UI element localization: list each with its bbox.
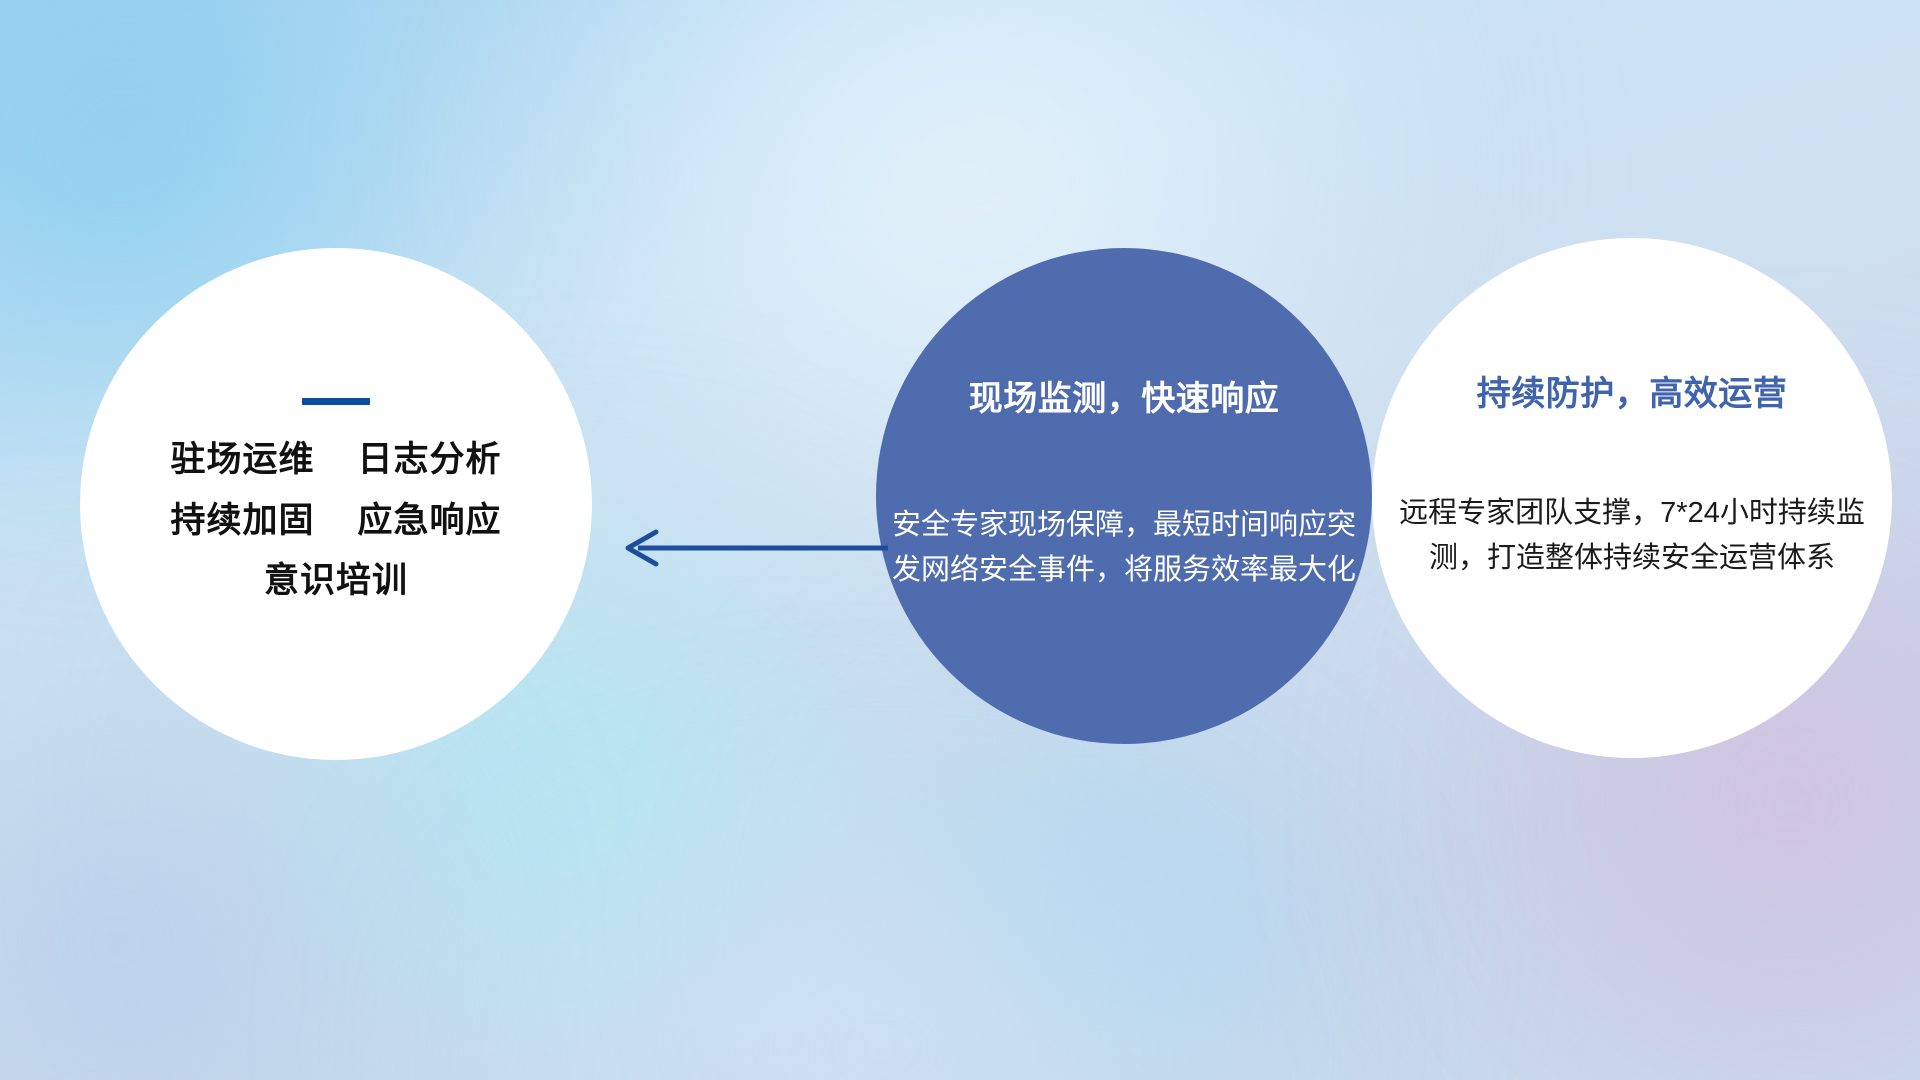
feature-description: 安全专家现场保障，最短时间响应突发网络安全事件，将服务效率最大化 [888, 503, 1360, 593]
list-item: 意识培训 [264, 562, 408, 601]
divider-dash [302, 398, 370, 405]
capability-list: 驻场运维 日志分析 持续加固 应急响应 意识培训 [171, 441, 502, 601]
feature-description: 远程专家团队支撑，7*24小时持续监测，打造整体持续安全运营体系 [1390, 491, 1874, 581]
list-item: 驻场运维 日志分析 [171, 441, 502, 480]
feature-circle-onsite-monitoring[interactable]: 现场监测，快速响应 安全专家现场保障，最短时间响应突发网络安全事件，将服务效率最… [876, 248, 1372, 744]
feature-title: 现场监测，快速响应 [818, 371, 1430, 420]
capability-circle-left[interactable]: 驻场运维 日志分析 持续加固 应急响应 意识培训 [80, 248, 592, 760]
slide-canvas: 驻场运维 日志分析 持续加固 应急响应 意识培训 现场监测，快速响应 安全专家现… [0, 0, 1920, 1080]
list-item: 持续加固 应急响应 [171, 502, 502, 541]
feature-circle-continuous-protection[interactable]: 持续防护，高效运营 远程专家团队支撑，7*24小时持续监测，打造整体持续安全运营… [1372, 238, 1892, 758]
flow-arrow-left-icon [612, 520, 892, 576]
feature-title: 持续防护，高效运营 [1372, 366, 1892, 415]
